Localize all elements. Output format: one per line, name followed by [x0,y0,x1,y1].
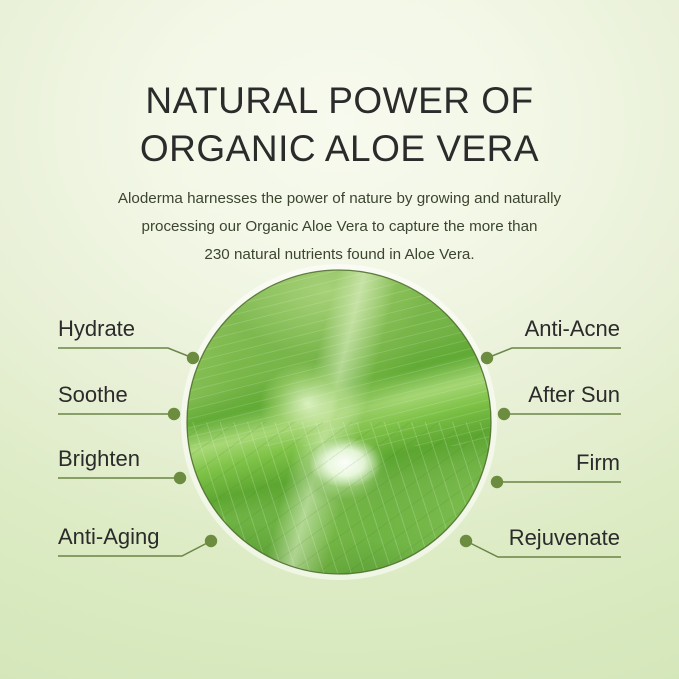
dot-anti-acne [481,352,493,364]
dot-rejuvenate [460,535,472,547]
dot-firm [491,476,503,488]
benefit-label-anti-acne: Anti-Acne [525,316,620,342]
infographic-canvas: NATURAL POWER OF ORGANIC ALOE VERA Alode… [0,0,679,679]
benefit-label-rejuvenate: Rejuvenate [509,525,620,551]
connector-line-anti-acne [487,348,621,358]
dot-hydrate [187,352,199,364]
connector-line-hydrate [58,348,193,358]
benefits-diagram: Hydrate Soothe Brighten Anti-Aging Anti-… [0,0,679,679]
benefit-label-hydrate: Hydrate [58,316,135,342]
benefit-label-firm: Firm [576,450,620,476]
benefit-label-after-sun: After Sun [528,382,620,408]
benefit-label-soothe: Soothe [58,382,128,408]
dot-soothe [168,408,180,420]
dot-anti-aging [205,535,217,547]
benefit-label-anti-aging: Anti-Aging [58,524,160,550]
connector-dots-group [168,352,510,547]
outer-ring-circle [187,270,491,574]
dot-brighten [174,472,186,484]
benefit-label-brighten: Brighten [58,446,140,472]
dot-after-sun [498,408,510,420]
